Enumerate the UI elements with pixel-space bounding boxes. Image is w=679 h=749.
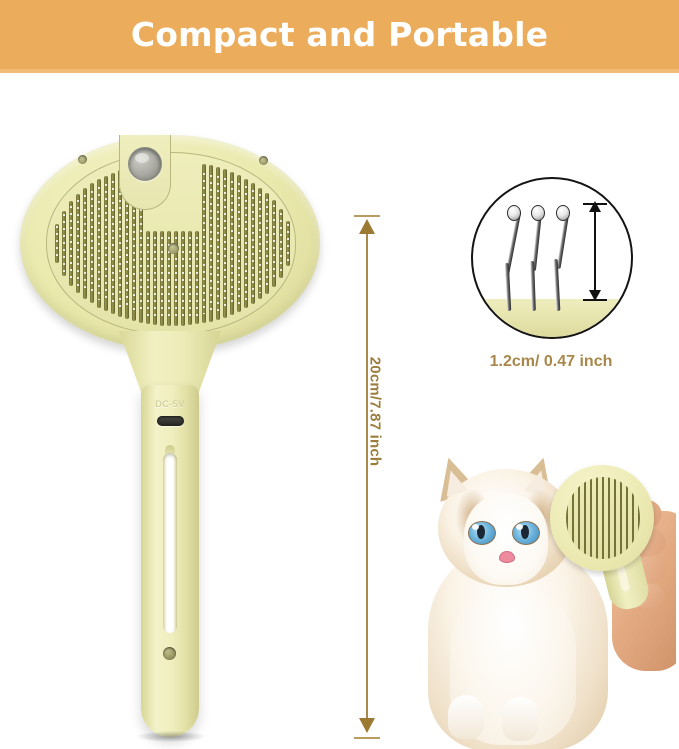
brush-pin: [286, 221, 290, 265]
screw-hole-top-right: [259, 156, 268, 165]
usb-c-port: [157, 416, 184, 426]
brush-neck: [119, 331, 221, 393]
brush-pin: [209, 165, 213, 321]
overall-dimension-marker: 20cm/7.87 inch: [352, 213, 382, 741]
page-title: Compact and Portable: [131, 15, 548, 54]
inset-dimension-line: [594, 205, 596, 301]
screw-hole-center: [168, 243, 179, 254]
button-highlight: [135, 153, 149, 163]
cat-eye-glint-right: [516, 524, 523, 530]
pin-close-up-inset: [471, 177, 633, 339]
brush-pin: [216, 167, 220, 319]
inset-pin-tip-1: [507, 205, 521, 221]
brush-pin: [160, 231, 164, 326]
dimension-cap-bottom: [354, 737, 380, 739]
cat-nose: [499, 551, 515, 563]
brush-pin: [272, 200, 276, 286]
inset-brush-base: [471, 299, 633, 337]
cat-paw-right: [502, 697, 538, 741]
dimension-cap-top: [354, 215, 380, 217]
brush-pin: [69, 201, 73, 285]
brush-in-use-slot: [616, 565, 630, 592]
brush-in-use-head: [550, 465, 654, 571]
content-stage: DC-5V 20cm/7.87 inch 1.2cm/: [0, 73, 679, 679]
brush-pin: [265, 193, 269, 293]
brush-pin: [83, 188, 87, 298]
cat-grooming-photo: [398, 445, 676, 749]
brush-in-use: [550, 465, 654, 605]
brush-pin: [55, 224, 59, 264]
brush-pin: [237, 175, 241, 312]
inset-arrow-up-icon: [589, 201, 601, 212]
brush-pin: [195, 231, 199, 324]
brush-pin: [62, 211, 66, 277]
brush-pin: [279, 209, 283, 278]
brush-pin: [251, 183, 255, 304]
brush-pin: [258, 188, 262, 300]
brush-pin: [104, 176, 108, 312]
arrow-up-icon: [359, 219, 375, 234]
power-button[interactable]: [128, 147, 162, 181]
brush-pin: [223, 169, 227, 317]
dc-voltage-label: DC-5V: [141, 399, 199, 409]
brush-pin: [202, 164, 206, 323]
brush-handle: DC-5V: [141, 385, 199, 737]
brush-pin: [97, 179, 101, 307]
brush-pin: [230, 172, 234, 315]
cat-eye-glint-left: [472, 524, 479, 530]
cat-paw-left: [448, 695, 484, 739]
arrow-down-icon: [359, 718, 375, 733]
pin-height-label: 1.2cm/ 0.47 inch: [456, 353, 646, 371]
product-illustration: DC-5V: [18, 135, 328, 735]
brush-pin: [153, 231, 157, 325]
brush-pin: [244, 179, 248, 309]
brush-pin: [90, 183, 94, 303]
brush-pin: [181, 231, 185, 326]
inset-pin-tip-3: [556, 205, 570, 221]
inset-arrow-down-icon: [589, 290, 601, 301]
handle-slot: [163, 453, 177, 633]
brush-head: [20, 135, 320, 350]
screw-hole-top-left: [78, 155, 87, 164]
brush-pin: [188, 231, 192, 325]
brush-pin: [111, 173, 115, 315]
header-banner: Compact and Portable: [0, 0, 679, 69]
overall-dimension-label: 20cm/7.87 inch: [367, 342, 384, 482]
brush-pin: [146, 231, 150, 324]
brush-pin: [76, 194, 80, 292]
inset-pin-tip-2: [531, 205, 545, 221]
product-shadow: [136, 731, 206, 742]
brush-in-use-pins: [566, 477, 640, 559]
lanyard-hole: [163, 647, 176, 660]
